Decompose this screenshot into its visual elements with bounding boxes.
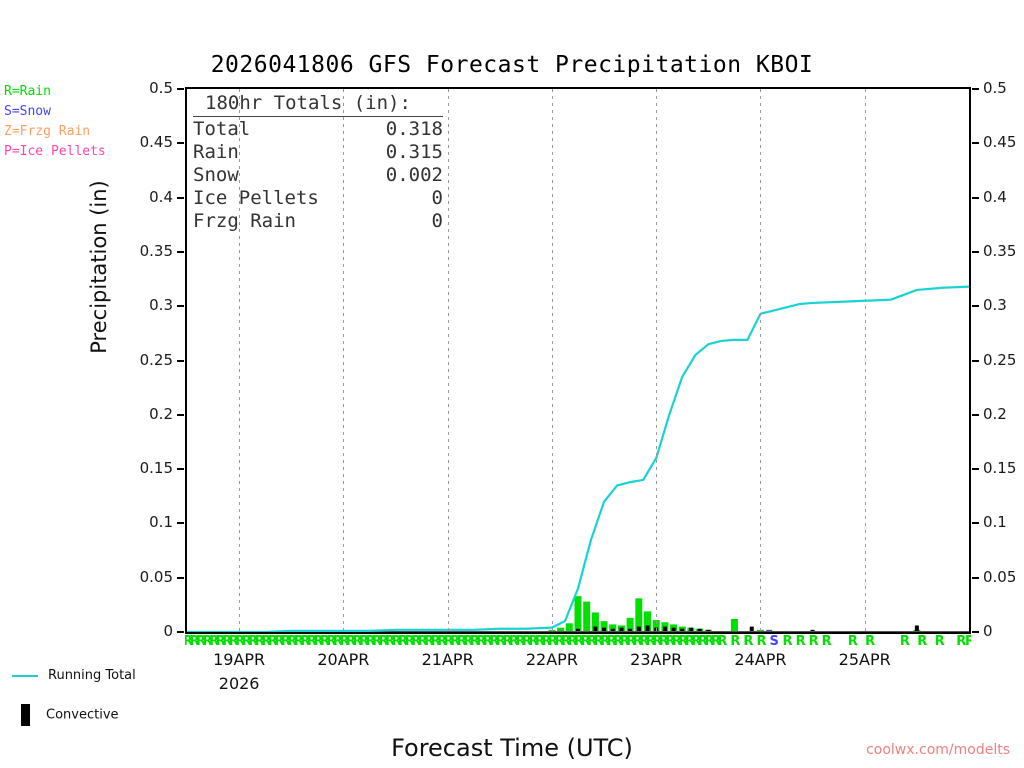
y-tick-label-left-8: 0.4 — [0, 188, 173, 206]
ptype-marker-r-82: R — [717, 634, 727, 649]
ptype-marker-r-89: R — [809, 634, 819, 649]
bar-total-precipitation — [583, 602, 590, 632]
ptype-marker-r-97: R — [965, 634, 971, 649]
totals-row: Snow 0.002 — [193, 164, 443, 187]
gridline-day-2 — [448, 89, 449, 632]
convective-bar-swatch — [21, 704, 30, 726]
y-tick-label-left-5: 0.25 — [0, 351, 173, 369]
y-tick-label-left-9: 0.45 — [0, 133, 173, 151]
y-tick-mark-right-9 — [972, 142, 979, 144]
x-tick-label-21apr: 21APR — [398, 650, 498, 669]
y-tick-mark-right-5 — [972, 360, 979, 362]
totals-row: Ice Pellets 0 — [193, 187, 443, 210]
ptype-marker-r-93: R — [900, 634, 910, 649]
y-tick-mark-left-5 — [177, 360, 184, 362]
legend-running-total: Running Total — [12, 668, 136, 683]
y-tick-label-left-4: 0.2 — [0, 405, 173, 423]
y-tick-label-right-6: 0.3 — [983, 296, 1007, 314]
y-tick-mark-right-8 — [972, 197, 979, 199]
x-tick-label-24apr: 24APR — [710, 650, 810, 669]
page-title: 2026041806 GFS Forecast Precipitation KB… — [0, 52, 1024, 78]
y-tick-mark-right-3 — [972, 468, 979, 470]
legend-running-total-label: Running Total — [48, 668, 136, 683]
running-total-line — [187, 287, 969, 632]
totals-label-total: Total — [193, 118, 250, 141]
y-tick-label-right-9: 0.45 — [983, 133, 1016, 151]
ptype-marker-r-85: R — [756, 634, 766, 649]
y-tick-label-right-3: 0.15 — [983, 459, 1016, 477]
y-tick-label-left-10: 0.5 — [0, 79, 173, 97]
totals-header: 180hr Totals (in): — [193, 92, 443, 117]
gridline-day-5 — [760, 89, 761, 632]
totals-label-rain: Rain — [193, 141, 239, 164]
y-tick-label-right-2: 0.1 — [983, 513, 1007, 531]
ptype-marker-r-87: R — [783, 634, 793, 649]
y-tick-label-right-8: 0.4 — [983, 188, 1007, 206]
x-tick-label-year: 2026 — [189, 674, 289, 693]
ptype-marker-r-92: R — [865, 634, 875, 649]
x-tick-label-20apr: 20APR — [293, 650, 393, 669]
totals-value-total: 0.318 — [386, 118, 443, 141]
legend-convective-label: Convective — [46, 708, 119, 723]
y-tick-label-right-1: 0.05 — [983, 568, 1016, 586]
x-tick-label-23apr: 23APR — [606, 650, 706, 669]
gridline-day-4 — [656, 89, 657, 632]
y-tick-label-left-0: 0 — [0, 622, 173, 640]
y-tick-label-left-2: 0.1 — [0, 513, 173, 531]
ptype-marker-r-95: R — [935, 634, 945, 649]
watermark: coolwx.com/modelts — [866, 742, 1010, 758]
bar-total-precipitation — [731, 619, 738, 632]
y-tick-mark-right-0 — [972, 631, 979, 633]
y-tick-mark-left-9 — [177, 142, 184, 144]
totals-label-frzg-rain: Frzg Rain — [193, 210, 296, 233]
y-tick-label-right-4: 0.2 — [983, 405, 1007, 423]
y-tick-label-left-3: 0.15 — [0, 459, 173, 477]
y-axis-title: Precipitation (in) — [87, 152, 111, 382]
y-tick-label-right-7: 0.35 — [983, 242, 1016, 260]
totals-label-ice-pellets: Ice Pellets — [193, 187, 319, 210]
y-tick-mark-right-1 — [972, 577, 979, 579]
totals-value-ice-pellets: 0 — [432, 187, 443, 210]
legend-convective: Convective — [12, 704, 119, 726]
legend-item-snow: S=Snow — [4, 102, 154, 122]
totals-value-frzg-rain: 0 — [432, 210, 443, 233]
y-tick-mark-left-0 — [177, 631, 184, 633]
y-tick-mark-left-6 — [177, 305, 184, 307]
y-tick-label-left-7: 0.35 — [0, 242, 173, 260]
y-tick-mark-left-10 — [177, 88, 184, 90]
totals-box: 180hr Totals (in): Total 0.318 Rain 0.31… — [193, 92, 443, 233]
y-tick-mark-right-6 — [972, 305, 979, 307]
y-tick-mark-right-10 — [972, 88, 979, 90]
y-tick-mark-left-8 — [177, 197, 184, 199]
y-tick-mark-right-4 — [972, 414, 979, 416]
y-tick-mark-left-1 — [177, 577, 184, 579]
x-tick-label-25apr: 25APR — [815, 650, 915, 669]
y-tick-mark-left-2 — [177, 522, 184, 524]
gridline-day-3 — [552, 89, 553, 632]
y-tick-mark-left-3 — [177, 468, 184, 470]
totals-row: Total 0.318 — [193, 118, 443, 141]
ptype-marker-r-84: R — [743, 634, 753, 649]
ptype-marker-r-91: R — [848, 634, 858, 649]
x-tick-label-19apr: 19APR — [189, 650, 289, 669]
totals-value-rain: 0.315 — [386, 141, 443, 164]
y-tick-label-right-10: 0.5 — [983, 79, 1007, 97]
y-tick-mark-left-7 — [177, 251, 184, 253]
totals-label-snow: Snow — [193, 164, 239, 187]
bar-total-precipitation — [566, 623, 573, 632]
y-tick-label-right-5: 0.25 — [983, 351, 1016, 369]
ptype-marker-s-86: S — [770, 634, 779, 649]
x-tick-label-22apr: 22APR — [502, 650, 602, 669]
bar-total-precipitation — [575, 596, 582, 632]
gridline-day-6 — [865, 89, 866, 632]
ptype-marker-r-88: R — [796, 634, 806, 649]
running-total-line-swatch — [12, 675, 38, 677]
totals-row: Rain 0.315 — [193, 141, 443, 164]
y-tick-mark-right-7 — [972, 251, 979, 253]
totals-row: Frzg Rain 0 — [193, 210, 443, 233]
ptype-marker-r-94: R — [917, 634, 927, 649]
ptype-marker-r-90: R — [822, 634, 832, 649]
y-tick-label-right-0: 0 — [983, 622, 993, 640]
y-tick-label-left-6: 0.3 — [0, 296, 173, 314]
y-tick-mark-left-4 — [177, 414, 184, 416]
totals-value-snow: 0.002 — [386, 164, 443, 187]
ptype-marker-r-83: R — [730, 634, 740, 649]
y-tick-mark-right-2 — [972, 522, 979, 524]
y-tick-label-left-1: 0.05 — [0, 568, 173, 586]
